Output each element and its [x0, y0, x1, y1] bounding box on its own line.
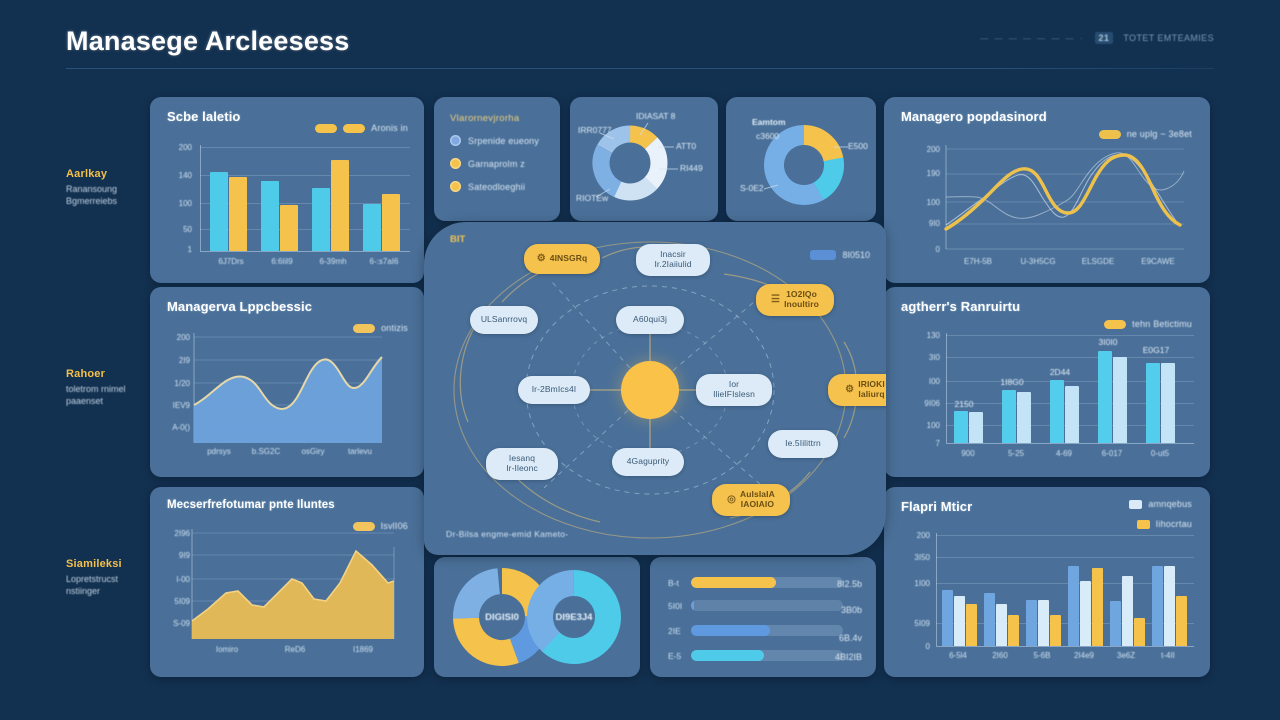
hub-node-lower-left[interactable]: Iesanq Ir-Ileonc — [486, 448, 558, 480]
x-tick: 2I4e9 — [1064, 651, 1104, 660]
y-tick: 200 — [898, 531, 930, 540]
sidebar-item-title: Aarlkay — [66, 168, 158, 180]
y-tick: 7 — [908, 439, 940, 448]
sidebar-item-siamileksi[interactable]: Siamileksi Lopretstrucst nstiinger — [66, 558, 158, 597]
progress-row[interactable]: 2IE — [668, 625, 843, 636]
hub-footer-text: Dr-Bilsa engme-emid Kameto- — [446, 529, 568, 539]
hub-node-bottom-inner[interactable]: 4Gaguprity — [612, 448, 684, 476]
sidebar-item-line1: Ranansoung — [66, 183, 158, 195]
header-meta: — — — — — — — · 21 TOTET EMTEAMIES — [980, 32, 1214, 44]
progress-label: E-5 — [668, 651, 684, 661]
legend-dot-icon — [450, 135, 461, 146]
progress-track — [691, 577, 843, 588]
y-tick: 5I09 — [898, 619, 930, 628]
card-mecsenr-area: Mecserfrefotumar pnte Iluntes IsvlI06 2I… — [150, 487, 424, 677]
y-tick: 100 — [164, 199, 192, 208]
progress-label: B-t — [668, 578, 684, 588]
progress-row[interactable]: 5I0I — [668, 600, 843, 611]
x-tick: 6J7Drs — [208, 257, 254, 266]
legend-swatch-amber-1 — [315, 124, 337, 133]
y-tick: 200 — [164, 143, 192, 152]
y-tick: 1I00 — [898, 579, 930, 588]
y-tick: 3I50 — [898, 553, 930, 562]
x-tick: U-3H5CG — [1010, 257, 1066, 266]
bar — [363, 204, 381, 251]
donut-label: RI449 — [680, 163, 703, 173]
y-tick: 100 — [908, 421, 940, 430]
legend-list-label: Srpenide eueony — [468, 136, 539, 146]
hub-node-label: 4INSGRq — [550, 254, 588, 264]
y-axis — [936, 533, 937, 646]
sidebar-item-line1: Lopretstrucst — [66, 573, 158, 585]
card-dual-donut: DIGISI0 DI9E3J4 — [434, 557, 640, 677]
progress-value: 8I2.5b — [837, 579, 862, 589]
hub-legend-label: 8I0510 — [842, 250, 870, 260]
hub-node-label: Ior IlieIFIslesn — [713, 380, 755, 400]
progress-track — [691, 625, 843, 636]
sidebar-item-line2: Bgmerreiebs — [66, 195, 158, 207]
donut-title-label: Eamtom — [752, 117, 786, 127]
legend-swatch-amber — [1137, 520, 1150, 529]
x-tick: 900 — [946, 449, 990, 458]
bar — [1092, 568, 1103, 646]
progress-fill — [691, 650, 764, 661]
sidebar-item-line2: nstiinger — [66, 585, 158, 597]
bar — [312, 188, 330, 251]
card-donut-left: IRR0777 IDIASAT 8 ATT0 RI449 RIOTEw — [570, 97, 718, 221]
sidebar-item-line1: toletrom rnimel — [66, 383, 158, 395]
hub-node-label: A60qui3j — [633, 315, 667, 325]
layers-icon: ☰ — [771, 294, 780, 306]
progress-label: 2IE — [668, 626, 684, 636]
y-tick: I00 — [908, 377, 940, 386]
card-flapri-bars: Flapri Mticr amnqebus Iihocrtau 200 3I50… — [884, 487, 1210, 677]
chart-legend: tehn Betictimu — [1104, 319, 1192, 329]
bar — [280, 205, 298, 251]
bar — [1017, 392, 1031, 443]
hub-node-lower-right[interactable]: Ie.5Iilittrn — [768, 430, 838, 458]
hub-node-label: Iesanq Ir-Ileonc — [506, 454, 538, 474]
bar — [954, 596, 965, 646]
hub-node-upper-inner[interactable]: A60qui3j — [616, 306, 684, 334]
x-tick: 6-39mh — [310, 257, 356, 266]
card-progress-bars: B-t 8I2.5b 5I0I 3B0b 2IE 6B.4v E-5 4BI2I… — [650, 557, 876, 677]
legend-label: Iihocrtau — [1156, 519, 1192, 529]
progress-track — [691, 650, 843, 661]
bar — [942, 590, 953, 646]
legend-dot-icon — [450, 181, 461, 192]
bar-value-label: 2D44 — [1040, 367, 1080, 377]
hub-node-upper-left[interactable]: ULSanrrovq — [470, 306, 538, 334]
bar-value-label: 3I0I0 — [1088, 337, 1128, 347]
plot-area — [206, 145, 410, 251]
bar — [984, 593, 995, 646]
x-tick: Iomiro — [200, 645, 254, 654]
bar-value-label: E0G17 — [1136, 345, 1176, 355]
x-axis — [200, 251, 410, 252]
x-tick: b.SG2C — [243, 447, 289, 456]
chart-legend: Aronis in — [315, 123, 408, 133]
legend-label: tehn Betictimu — [1132, 319, 1192, 329]
bar — [382, 194, 400, 251]
bar — [229, 177, 247, 251]
line-chart-managero — [884, 97, 1210, 283]
hub-network-diagram: BIT 8I0510 ⚙ 4INSGRq Inacsir Ir.2Iaiiuli… — [424, 222, 886, 555]
line-primary-amber — [946, 155, 1180, 229]
bar — [1038, 600, 1049, 646]
hub-node-left-inner[interactable]: Ir-2BmIcs4I — [518, 376, 590, 404]
hub-node-label: Inacsir Ir.2Iaiiulid — [654, 250, 691, 270]
hub-node-label: 4Gaguprity — [627, 457, 670, 467]
progress-fill — [691, 625, 770, 636]
bar — [1002, 390, 1016, 443]
y-tick: 130 — [908, 331, 940, 340]
hub-node-label: ULSanrrovq — [481, 315, 527, 325]
legend-list-label: Garnaprolm z — [468, 159, 525, 169]
x-tick: pdrsys — [196, 447, 242, 456]
card-managerva-area: Managerva Lppcbessic ontizis 200 2I9 1/2… — [150, 287, 424, 477]
bar — [1161, 363, 1175, 443]
x-tick: 6-:s7aI6 — [361, 257, 407, 266]
plot-area — [940, 533, 1194, 646]
donut-label: IRR0777 — [578, 125, 612, 135]
bar — [210, 172, 228, 251]
bar — [1110, 601, 1121, 646]
line-tertiary — [946, 153, 1184, 219]
card-scb-ratio: Scbe laletio Aronis in 200 140 100 50 1 … — [150, 97, 424, 283]
bar — [1113, 357, 1127, 443]
chart-legend-2: Iihocrtau — [1137, 519, 1192, 529]
hub-legend: 8I0510 — [810, 250, 870, 260]
donut-label: S-0E2 — [740, 183, 764, 193]
donut-label: IDIASAT 8 — [636, 111, 675, 121]
header-meta-text: TOTET EMTEAMIES — [1123, 33, 1214, 43]
area-fill — [194, 357, 382, 443]
bar — [1134, 618, 1145, 646]
x-tick: 3e6Z — [1106, 651, 1146, 660]
donut-label: E500 — [848, 141, 868, 151]
progress-row[interactable]: B-t — [668, 577, 843, 588]
bar — [966, 604, 977, 646]
hub-node-amber-right[interactable]: ⚙ IRIOKI IaIiurq — [828, 374, 886, 406]
hub-center-node[interactable] — [621, 361, 679, 419]
hub-node-label: Ie.5Iilittrn — [785, 439, 821, 449]
card-title: Scbe laletio — [167, 109, 240, 124]
hub-legend-swatch — [810, 250, 836, 260]
hub-node-right-inner[interactable]: Ior IlieIFIslesn — [696, 374, 772, 406]
x-tick: 4-69 — [1042, 449, 1086, 458]
x-tick: 6-5l4 — [938, 651, 978, 660]
legend-label: amnqebus — [1148, 499, 1192, 509]
card-legend-list: Vlarornevjrorha Srpenide eueony Garnapro… — [434, 97, 560, 221]
bar — [1098, 351, 1112, 443]
x-tick: osGiry — [290, 447, 336, 456]
hub-tag: BIT — [450, 234, 465, 245]
bar — [1050, 380, 1064, 443]
x-axis — [936, 646, 1194, 647]
x-tick: t-4II — [1148, 651, 1188, 660]
legend-list-item[interactable]: Sateodloeghii — [450, 181, 525, 192]
progress-value: 6B.4v — [839, 633, 862, 643]
y-tick: 1 — [164, 245, 192, 254]
card-title: agtherr's Ranruirtu — [901, 299, 1020, 314]
x-tick: 5-25 — [994, 449, 1038, 458]
x-tick: ELSGDE — [1070, 257, 1126, 266]
bar-value-label: 2150 — [944, 399, 984, 409]
y-axis — [946, 333, 947, 443]
sidebar-item-line2: paaenset — [66, 395, 158, 407]
legend-list-item[interactable]: Garnaprolm z — [450, 158, 525, 169]
x-tick: ReD6 — [268, 645, 322, 654]
hub-node-label: Ir-2BmIcs4I — [532, 385, 577, 395]
card-managero-line: Managero popdasinord ne uplg ~ 3e8et 200… — [884, 97, 1210, 283]
header-meta-badge: 21 — [1095, 32, 1114, 44]
x-axis — [946, 443, 1194, 444]
progress-track — [691, 600, 843, 611]
dual-donut-chart — [434, 557, 640, 677]
gear-icon: ⚙ — [845, 384, 854, 396]
x-tick: I1869 — [336, 645, 390, 654]
bar — [969, 412, 983, 443]
bar — [996, 604, 1007, 646]
x-tick: tarlevu — [337, 447, 383, 456]
donut-label: ATT0 — [676, 141, 696, 151]
y-tick: 3I0 — [908, 353, 940, 362]
bar — [1146, 363, 1160, 443]
x-tick: 2I60 — [980, 651, 1020, 660]
donut-chart-right — [726, 97, 876, 221]
bar — [1164, 566, 1175, 646]
legend-swatch-amber-2 — [343, 124, 365, 133]
target-icon: ◎ — [727, 494, 736, 506]
legend-dot-icon — [450, 158, 461, 169]
x-tick: 6:6Iil9 — [259, 257, 305, 266]
hub-node-label: AuIsIaIA IAOIAIO — [740, 490, 775, 510]
bar — [1080, 581, 1091, 646]
card-donut-right: Eamtom c3600 E500 S-0E2 — [726, 97, 876, 221]
donut-title-value: c3600 — [756, 131, 779, 141]
y-tick: 50 — [164, 225, 192, 234]
x-tick: E7H-5B — [950, 257, 1006, 266]
bar — [1050, 615, 1061, 646]
bar — [1152, 566, 1163, 646]
hub-node-label: 1O2IQo Inoultiro — [784, 290, 819, 310]
bar — [261, 181, 279, 251]
bar — [1008, 615, 1019, 646]
legend-list-item[interactable]: Srpenide eueony — [450, 135, 539, 146]
progress-fill — [691, 600, 694, 611]
card-agtcherrs-bars: agtherr's Ranruirtu tehn Betictimu 130 3… — [884, 287, 1210, 477]
hub-node-amber-bottom[interactable]: ◎ AuIsIaIA IAOIAIO — [712, 484, 790, 516]
hub-node-label: IRIOKI IaIiurq — [858, 380, 885, 400]
bar — [331, 160, 349, 251]
legend-swatch-light — [1129, 500, 1142, 509]
dashboard-header: Manasege Arcleesess — — — — — — — · 21 T… — [0, 0, 1280, 78]
card-title: Flapri Mticr — [901, 499, 972, 514]
donut-center-label-left: DIGISI0 — [472, 612, 532, 623]
legend-swatch-amber — [1104, 320, 1126, 329]
header-divider — [66, 68, 1214, 69]
sidebar-item-aarlkay[interactable]: Aarlkay Ranansoung Bgmerreiebs — [66, 168, 158, 207]
y-tick: 0 — [898, 642, 930, 651]
sidebar-item-rahoer[interactable]: Rahoer toletrom rnimel paaenset — [66, 368, 158, 407]
sidebar-item-title: Rahoer — [66, 368, 158, 380]
y-tick: 9I06 — [908, 399, 940, 408]
y-axis — [200, 145, 201, 251]
x-tick: E9CAWE — [1130, 257, 1186, 266]
legend-label: Aronis in — [371, 123, 408, 133]
x-tick: 0-ut5 — [1138, 449, 1182, 458]
y-tick: 140 — [164, 171, 192, 180]
page-title: Manasege Arcleesess — [66, 26, 349, 57]
header-meta-dots: — — — — — — — · — [980, 34, 1084, 43]
progress-value: 3B0b — [841, 605, 862, 615]
progress-value: 4BI2IB — [835, 652, 862, 662]
area-fill — [192, 551, 394, 639]
gear-icon: ⚙ — [537, 253, 546, 265]
donut-label: RIOTEw — [576, 193, 608, 203]
hub-node-top-right[interactable]: Inacsir Ir.2Iaiiulid — [636, 244, 710, 276]
legend-list-heading: Vlarornevjrorha — [450, 113, 519, 124]
bar — [954, 411, 968, 443]
x-tick: 5-6B — [1022, 651, 1062, 660]
hub-node-amber-right-top[interactable]: ☰ 1O2IQo Inoultiro — [756, 284, 834, 316]
sidebar-item-title: Siamileksi — [66, 558, 158, 570]
hub-node-amber-top[interactable]: ⚙ 4INSGRq — [524, 244, 600, 274]
bar — [1122, 576, 1133, 646]
progress-row[interactable]: E-5 — [668, 650, 843, 661]
bar — [1176, 596, 1187, 646]
x-tick: 6-017 — [1090, 449, 1134, 458]
progress-label: 5I0I — [668, 601, 684, 611]
progress-fill — [691, 577, 776, 588]
legend-list-label: Sateodloeghii — [468, 182, 525, 192]
bar — [1068, 566, 1079, 646]
donut-center-label-right: DI9E3J4 — [544, 612, 604, 623]
bar-value-label: 1I8G0 — [992, 377, 1032, 387]
chart-legend-1: amnqebus — [1129, 499, 1192, 509]
bar — [1026, 600, 1037, 646]
bar — [1065, 386, 1079, 443]
